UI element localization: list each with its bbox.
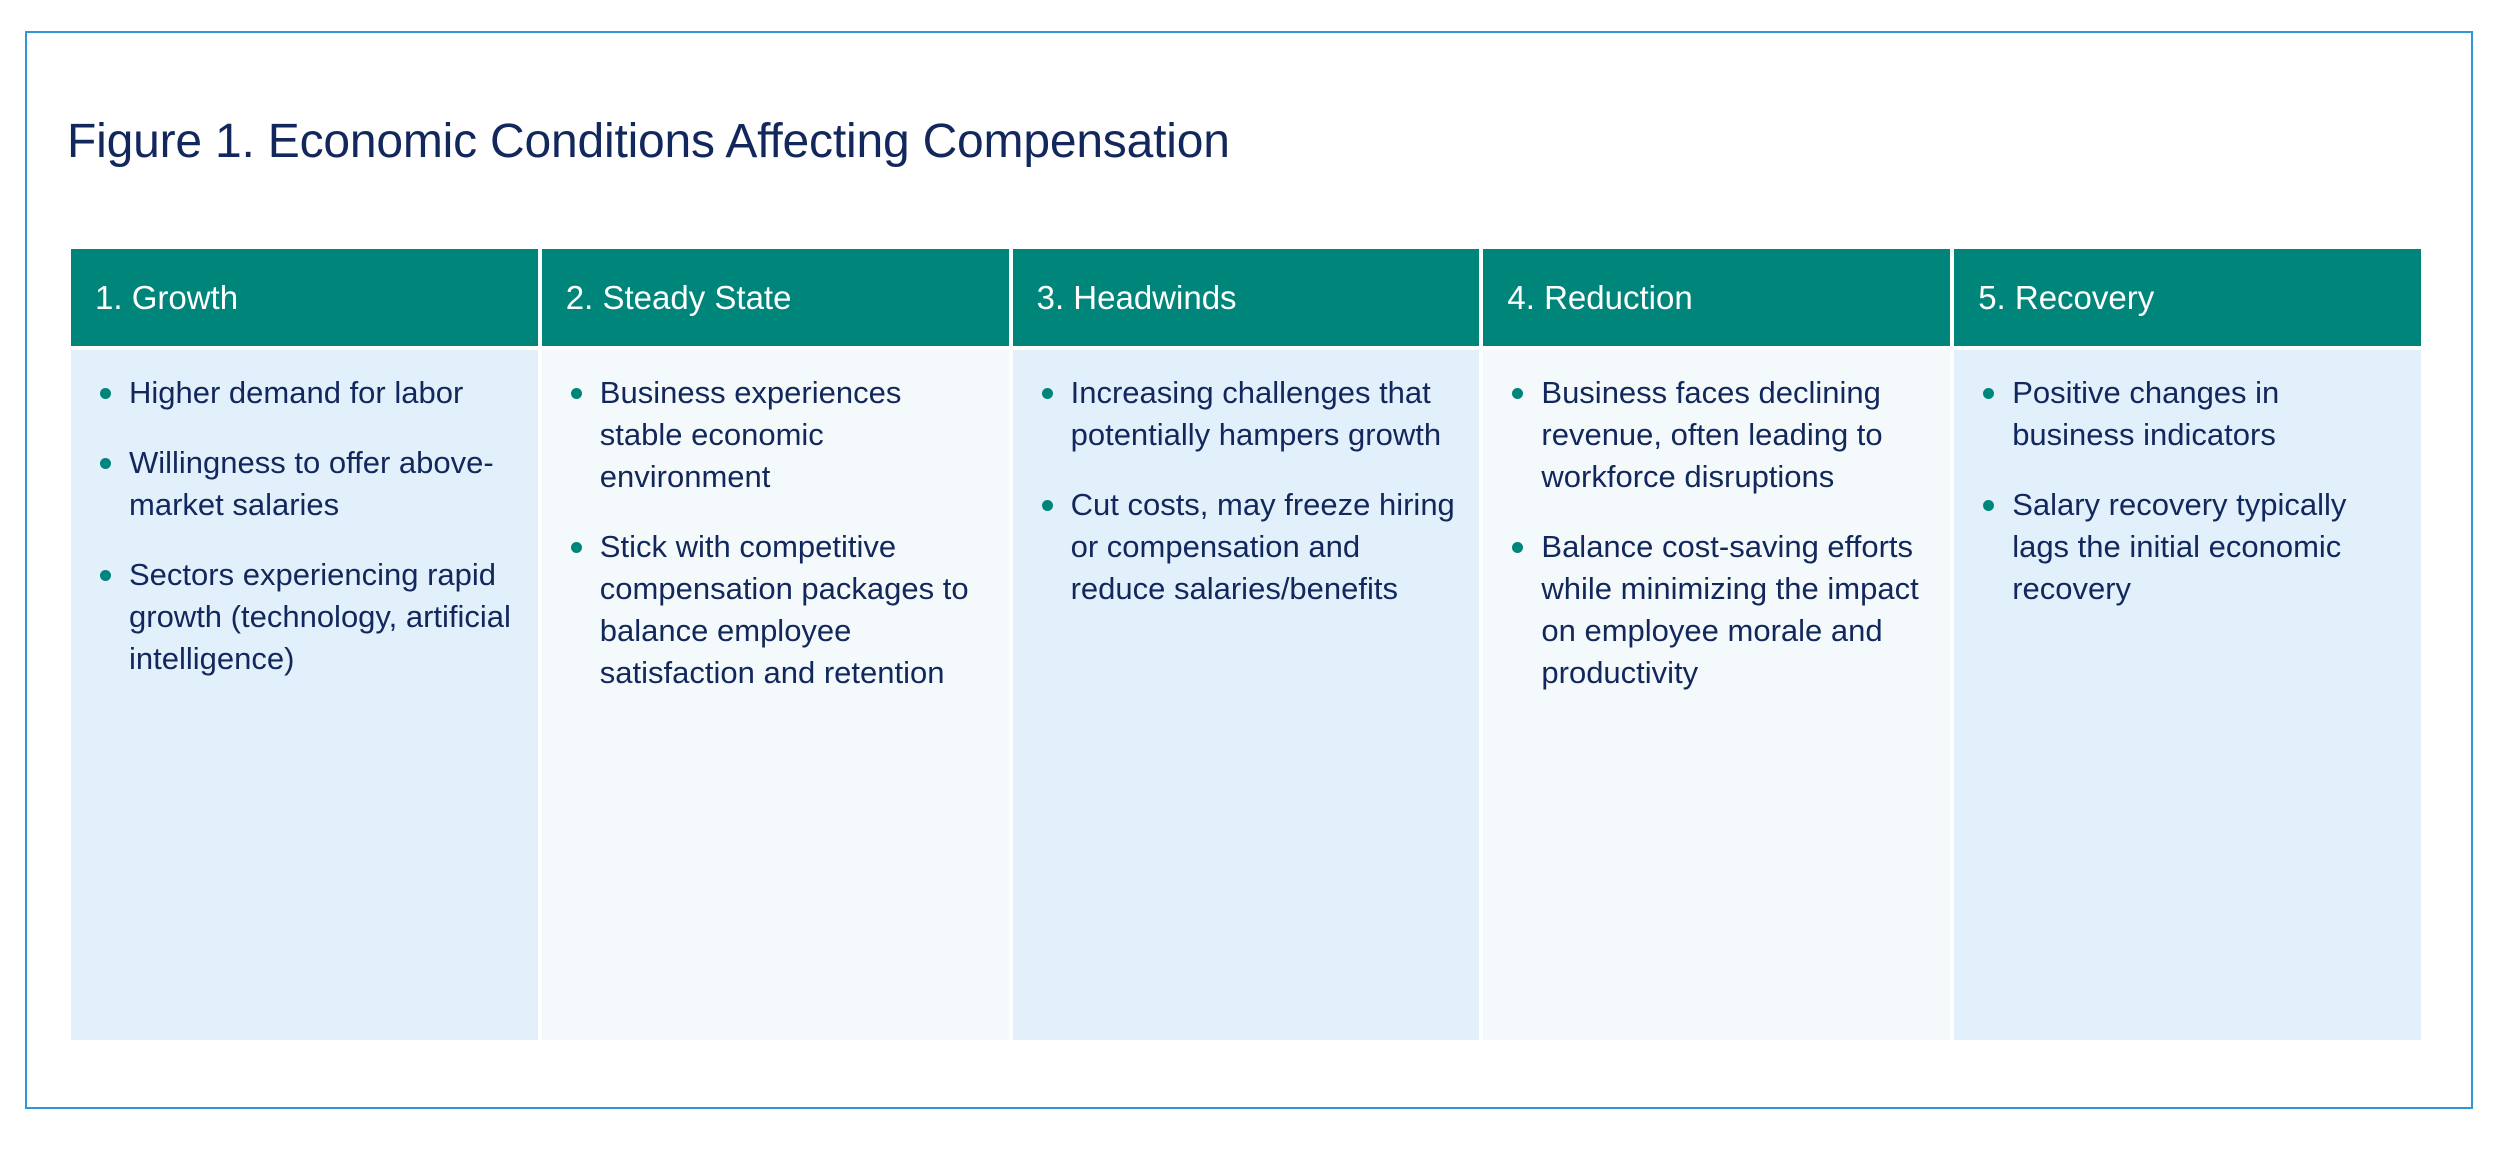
figure-title: Figure 1. Economic Conditions Affecting … [67,113,1230,171]
list-item: Increasing challenges that potentially h… [1033,372,1456,456]
list-item-text: Positive changes in business indicators [2012,375,2279,452]
list-item: Balance cost-saving efforts while minimi… [1503,526,1926,694]
list-item-text: Balance cost-saving efforts while minimi… [1541,529,1918,690]
column-header-4: 4. Reduction [1483,249,1950,346]
list-item-text: Sectors experiencing rapid growth (techn… [129,557,511,676]
figure-card: Figure 1. Economic Conditions Affecting … [25,31,2473,1109]
bullet-dot-icon [1512,542,1523,553]
list-item: Cut costs, may freeze hiring or compensa… [1033,484,1456,610]
column-header-2: 2. Steady State [542,249,1009,346]
bullet-dot-icon [1983,388,1994,399]
list-item-text: Stick with competitive compensation pack… [600,529,969,690]
list-item: Stick with competitive compensation pack… [562,526,985,694]
bullet-list-5: Positive changes in business indicatorsS… [1974,372,2397,610]
bullet-list-4: Business faces declining revenue, often … [1503,372,1926,694]
list-item-text: Cut costs, may freeze hiring or compensa… [1071,487,1455,606]
column-body-2: Business experiences stable economic env… [542,350,1009,1040]
matrix-column-3: 3. HeadwindsIncreasing challenges that p… [1013,249,1484,1040]
bullet-dot-icon [100,388,111,399]
list-item: Salary recovery typically lags the initi… [1974,484,2397,610]
bullet-dot-icon [571,388,582,399]
column-header-1: 1. Growth [71,249,538,346]
matrix-column-4: 4. ReductionBusiness faces declining rev… [1483,249,1954,1040]
matrix-column-2: 2. Steady StateBusiness experiences stab… [542,249,1013,1040]
bullet-list-1: Higher demand for laborWillingness to of… [91,372,514,680]
list-item-text: Increasing challenges that potentially h… [1071,375,1441,452]
bullet-dot-icon [1512,388,1523,399]
bullet-dot-icon [571,542,582,553]
column-header-5: 5. Recovery [1954,249,2421,346]
list-item: Business faces declining revenue, often … [1503,372,1926,498]
list-item: Willingness to offer above-market salari… [91,442,514,526]
column-header-3: 3. Headwinds [1013,249,1480,346]
column-body-4: Business faces declining revenue, often … [1483,350,1950,1040]
bullet-dot-icon [1983,500,1994,511]
list-item: Business experiences stable economic env… [562,372,985,498]
economic-conditions-matrix: 1. GrowthHigher demand for laborWillingn… [71,249,2421,1040]
column-body-1: Higher demand for laborWillingness to of… [71,350,538,1040]
bullet-dot-icon [1042,388,1053,399]
bullet-dot-icon [1042,500,1053,511]
list-item-text: Business experiences stable economic env… [600,375,902,494]
column-body-5: Positive changes in business indicatorsS… [1954,350,2421,1040]
matrix-column-1: 1. GrowthHigher demand for laborWillingn… [71,249,542,1040]
list-item-text: Higher demand for labor [129,375,463,410]
list-item-text: Salary recovery typically lags the initi… [2012,487,2346,606]
list-item: Positive changes in business indicators [1974,372,2397,456]
list-item: Higher demand for labor [91,372,514,414]
bullet-list-3: Increasing challenges that potentially h… [1033,372,1456,610]
column-body-3: Increasing challenges that potentially h… [1013,350,1480,1040]
list-item-text: Willingness to offer above-market salari… [129,445,494,522]
list-item-text: Business faces declining revenue, often … [1541,375,1882,494]
matrix-column-5: 5. RecoveryPositive changes in business … [1954,249,2421,1040]
bullet-list-2: Business experiences stable economic env… [562,372,985,694]
list-item: Sectors experiencing rapid growth (techn… [91,554,514,680]
bullet-dot-icon [100,458,111,469]
bullet-dot-icon [100,570,111,581]
